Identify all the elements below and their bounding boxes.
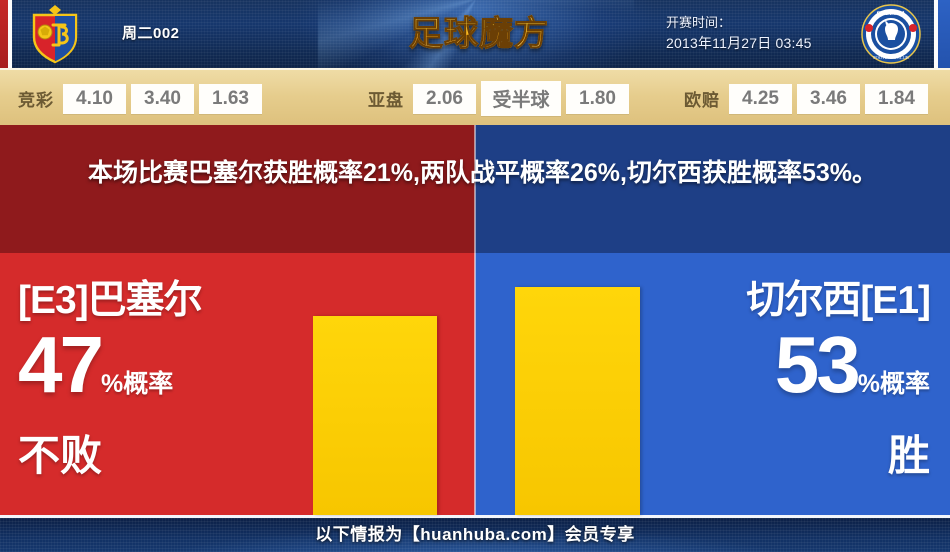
chart-bar-away (515, 287, 640, 515)
away-team-block: 切尔西[E1] 53%概率 胜 (746, 253, 930, 481)
home-probability: 47%概率 (18, 326, 202, 427)
odds-group-oupei: 欧赔 4.25 3.46 1.84 (684, 70, 933, 127)
handicap-value[interactable]: 受半球 (481, 81, 561, 116)
header-right-blue-stripe (938, 0, 950, 68)
away-outcome-label: 胜 (746, 431, 930, 481)
odds-value[interactable]: 3.40 (131, 84, 194, 114)
match-number: 周二002 (122, 22, 180, 43)
chart-bar-home (313, 316, 437, 515)
odds-group-jingcai: 竞彩 4.10 3.40 1.63 (18, 70, 267, 127)
footer-membership-notice: 以下情报为【huanhuba.com】会员专享 (0, 518, 950, 552)
kickoff-label: 开赛时间： (666, 12, 812, 33)
header-left-red-stripe (0, 0, 8, 68)
home-probability-value: 47 (18, 320, 101, 409)
odds-group-yapan: 亚盘 2.06 受半球 1.80 (368, 70, 634, 127)
footer-bar: 以下情报为【huanhuba.com】会员专享 (0, 515, 950, 552)
home-team-name: [E3]巴塞尔 (18, 278, 202, 324)
home-outcome-label: 不败 (18, 431, 202, 481)
away-probability-value: 53 (775, 320, 858, 409)
away-probability-suffix: %概率 (858, 370, 930, 398)
kickoff-value: 2013年11月27日 03:45 (666, 33, 812, 54)
match-prediction-card: 周二002 足球魔方 开赛时间： 2013年11月27日 03:45 CHELS… (0, 0, 950, 552)
odds-value[interactable]: 4.10 (63, 84, 126, 114)
probability-summary-banner: 本场比赛巴塞尔获胜概率21%,两队战平概率26%,切尔西获胜概率53%。 (0, 125, 950, 253)
odds-value[interactable]: 1.63 (199, 84, 262, 114)
header-left-gap (8, 0, 12, 68)
odds-value[interactable]: 4.25 (729, 84, 792, 114)
odds-value[interactable]: 2.06 (413, 84, 476, 114)
odds-value[interactable]: 1.84 (865, 84, 928, 114)
header-bar: 周二002 足球魔方 开赛时间： 2013年11月27日 03:45 CHELS… (0, 0, 950, 68)
odds-value[interactable]: 1.80 (566, 84, 629, 114)
chart-divider (474, 253, 476, 515)
home-team-block: [E3]巴塞尔 47%概率 不败 (18, 253, 202, 481)
probability-summary-text: 本场比赛巴塞尔获胜概率21%,两队战平概率26%,切尔西获胜概率53%。 (88, 153, 878, 194)
away-probability: 53%概率 (746, 326, 930, 427)
odds-group-label: 欧赔 (684, 86, 720, 111)
site-brand-logo: 足球魔方 (404, 9, 554, 59)
home-probability-suffix: %概率 (101, 370, 173, 398)
odds-value[interactable]: 3.46 (797, 84, 860, 114)
away-team-name: 切尔西[E1] (746, 278, 930, 324)
probability-chart: [E3]巴塞尔 47%概率 不败 切尔西[E1] 53%概率 胜 (0, 253, 950, 515)
svg-text:CHELSEA: CHELSEA (877, 11, 906, 17)
odds-group-label: 亚盘 (368, 86, 404, 111)
basel-crest-icon (24, 3, 86, 65)
odds-bar: 竞彩 4.10 3.40 1.63 亚盘 2.06 受半球 1.80 欧赔 4.… (0, 68, 950, 127)
kickoff-time: 开赛时间： 2013年11月27日 03:45 (666, 12, 812, 54)
odds-group-label: 竞彩 (18, 86, 54, 111)
chelsea-crest-icon: CHELSEA FOOTBALL CLUB (860, 3, 922, 65)
svg-text:FOOTBALL CLUB: FOOTBALL CLUB (873, 55, 909, 60)
